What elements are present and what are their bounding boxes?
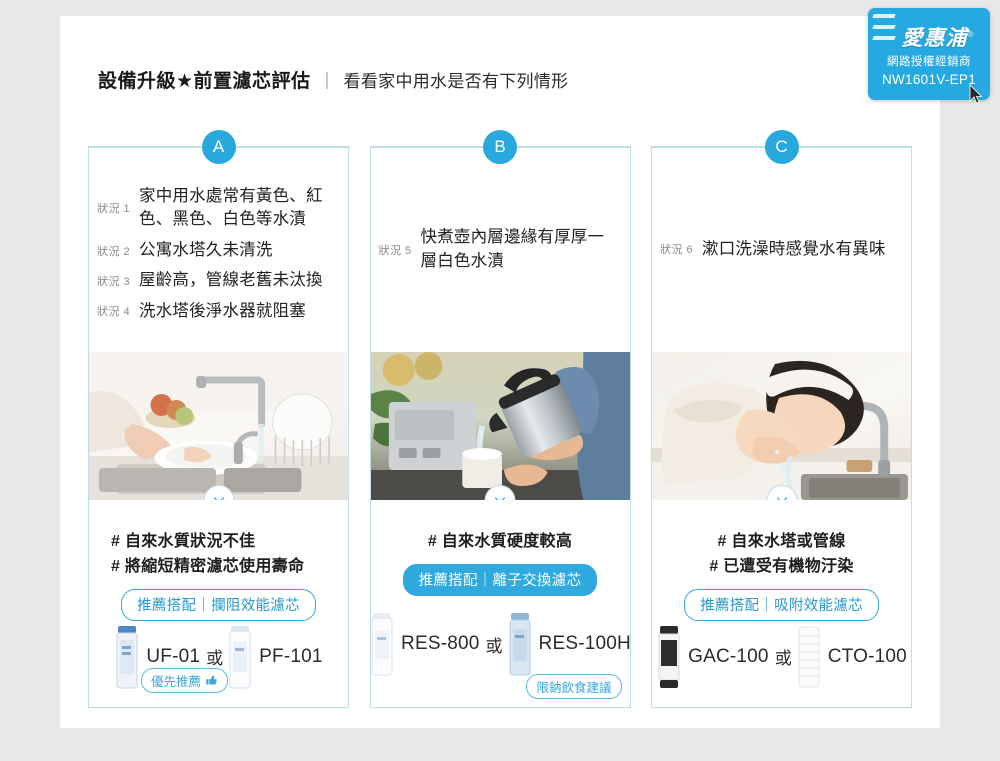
condition-text: 洗水塔後淨水器就阻塞 <box>139 300 306 323</box>
recommendation-pill[interactable]: 推薦搭配｜吸附效能濾芯 <box>684 589 879 621</box>
assessment-card-a: A 狀況 1 家中用水處常有黃色、紅色、黑色、白色等水漬 狀況 2 公寓水塔久未… <box>88 146 349 708</box>
tag-item: # 自來水塔或管線 <box>662 530 901 555</box>
tag-list-c: # 自來水塔或管線 # 已遭受有機物汙染 <box>652 500 911 580</box>
thumbs-up-icon <box>205 674 218 686</box>
card-letter-a: A <box>202 130 236 164</box>
photo-washing-dishes <box>89 352 348 500</box>
photo-kettle-pouring <box>371 352 630 500</box>
recommendation-pill-wrap-a: 推薦搭配｜攔阻效能濾芯 <box>89 589 348 621</box>
recommendation-pill-wrap-c: 推薦搭配｜吸附效能濾芯 <box>652 589 911 621</box>
product-name: GAC-100 <box>688 646 769 668</box>
sodium-diet-label: 限鈉飲食建議 <box>536 677 611 696</box>
condition-item: 狀況 5 快煮壺內層邊緣有厚厚一層白色水漬 <box>379 226 618 273</box>
condition-text: 家中用水處常有黃色、紅色、黑色、白色等水漬 <box>139 185 336 232</box>
product-connector: 或 <box>206 644 223 669</box>
condition-item: 狀況 1 家中用水處常有黃色、紅色、黑色、白色等水漬 <box>97 185 336 232</box>
page-title-subtitle: 看看家中用水是否有下列情形 <box>344 67 569 92</box>
assessment-columns: A 狀況 1 家中用水處常有黃色、紅色、黑色、白色等水漬 狀況 2 公寓水塔久未… <box>88 146 912 708</box>
product-name: PF-101 <box>259 646 323 668</box>
product-item[interactable]: PF-101 <box>227 624 323 690</box>
conditions-list-a: 狀況 1 家中用水處常有黃色、紅色、黑色、白色等水漬 狀況 2 公寓水塔久未清洗… <box>89 147 348 352</box>
tag-item: # 將縮短精密濾芯使用壽命 <box>111 555 338 580</box>
brand-description: 網路授權經銷商 <box>868 53 990 69</box>
content-sheet: 設備升級★前置濾芯評估 ｜ 看看家中用水是否有下列情形 A 狀況 1 家中用水處… <box>60 16 940 728</box>
condition-text: 公寓水塔久未清洗 <box>139 239 273 262</box>
tag-list-a: # 自來水質狀況不佳 # 將縮短精密濾芯使用壽命 <box>89 500 348 580</box>
condition-item: 狀況 2 公寓水塔久未清洗 <box>97 239 336 262</box>
priority-recommend-label: 優先推薦 <box>151 671 201 690</box>
sodium-diet-badge: 限鈉飲食建議 <box>526 674 621 699</box>
page-title-main: 設備升級★前置濾芯評估 <box>98 66 311 93</box>
condition-label: 狀況 2 <box>97 243 139 259</box>
conditions-list-b: 狀況 5 快煮壺內層邊緣有厚厚一層白色水漬 <box>371 147 630 352</box>
condition-item: 狀況 3 屋齡高，管線老舊未汰換 <box>97 269 336 292</box>
condition-text: 屋齡高，管線老舊未汰換 <box>139 269 323 292</box>
filter-cartridge-icon <box>114 624 140 690</box>
filter-cartridge-icon <box>796 624 822 690</box>
card-letter-b: B <box>483 130 517 164</box>
product-name: RES-100H <box>539 633 631 655</box>
page-root: 設備升級★前置濾芯評估 ｜ 看看家中用水是否有下列情形 A 狀況 1 家中用水處… <box>0 0 1000 761</box>
product-name: CTO-100 <box>828 646 907 668</box>
filter-cartridge-icon <box>369 611 395 677</box>
condition-text: 漱口洗澡時感覺水有異味 <box>702 238 886 261</box>
conditions-list-c: 狀況 6 漱口洗澡時感覺水有異味 <box>652 147 911 352</box>
product-list-a: UF-01 或 PF-101 優先推薦 <box>89 621 348 707</box>
priority-recommend-badge: 優先推薦 <box>141 668 228 693</box>
product-item[interactable]: CTO-100 <box>796 624 907 690</box>
filter-cartridge-icon <box>656 624 682 690</box>
condition-item: 狀況 6 漱口洗澡時感覺水有異味 <box>660 238 899 261</box>
filter-cartridge-icon <box>227 624 253 690</box>
condition-label: 狀況 4 <box>97 303 139 319</box>
condition-label: 狀況 3 <box>97 273 139 289</box>
recommendation-pill[interactable]: 推薦搭配｜離子交換濾芯 <box>403 564 598 596</box>
tag-item: # 自來水質硬度較高 <box>381 530 620 555</box>
product-name: UF-01 <box>146 646 200 668</box>
product-item[interactable]: RES-100H <box>507 611 631 677</box>
tag-item: # 自來水質狀況不佳 <box>111 530 338 555</box>
registered-mark: ® <box>968 30 975 39</box>
product-name: RES-800 <box>401 633 480 655</box>
recommendation-pill[interactable]: 推薦搭配｜攔阻效能濾芯 <box>121 589 316 621</box>
condition-text: 快煮壺內層邊緣有厚厚一層白色水漬 <box>421 226 618 273</box>
product-item[interactable]: GAC-100 或 <box>656 624 796 690</box>
assessment-card-c: C 狀況 6 漱口洗澡時感覺水有異味 <box>651 146 912 708</box>
filter-cartridge-icon <box>507 611 533 677</box>
condition-label: 狀況 6 <box>660 241 702 257</box>
product-connector: 或 <box>486 632 503 657</box>
tag-list-b: # 自來水質硬度較高 <box>371 500 630 555</box>
mouse-cursor-icon <box>969 84 983 104</box>
photo-washing-face <box>652 352 911 500</box>
product-item[interactable]: RES-800 或 <box>369 611 507 677</box>
brand-name-text: 愛惠浦 <box>902 27 968 50</box>
product-list-b: RES-800 或 RES-100H 限鈉飲食建議 <box>371 596 630 707</box>
brand-name: 愛惠浦® <box>890 22 986 52</box>
condition-label: 狀況 1 <box>97 200 139 216</box>
recommendation-pill-wrap-b: 推薦搭配｜離子交換濾芯 <box>371 564 630 596</box>
tag-item: # 已遭受有機物汙染 <box>662 555 901 580</box>
assessment-card-b: B 狀況 5 快煮壺內層邊緣有厚厚一層白色水漬 <box>370 146 631 708</box>
product-list-c: GAC-100 或 CTO-100 <box>652 621 911 707</box>
card-letter-c: C <box>765 130 799 164</box>
product-connector: 或 <box>775 644 792 669</box>
page-title: 設備升級★前置濾芯評估 ｜ 看看家中用水是否有下列情形 <box>98 66 568 93</box>
condition-item: 狀況 4 洗水塔後淨水器就阻塞 <box>97 300 336 323</box>
title-divider: ｜ <box>319 67 336 92</box>
condition-label: 狀況 5 <box>379 242 421 258</box>
